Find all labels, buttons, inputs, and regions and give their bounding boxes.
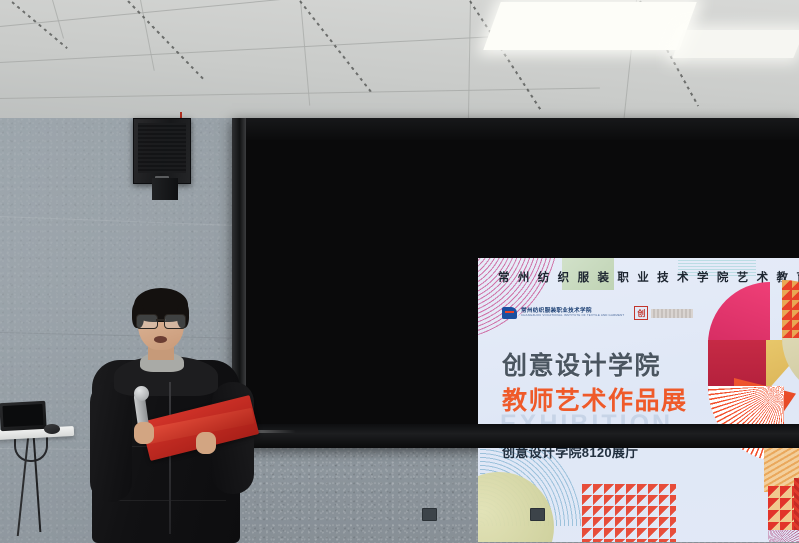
speaker-presenter [84, 286, 256, 543]
speaker-grill [138, 123, 186, 173]
university-name-en: CHANGZHOU VOCATIONAL INSTITUTE OF TEXTIL… [521, 314, 624, 317]
person-right-hand [196, 432, 216, 454]
university-logo-icon [502, 307, 517, 319]
poster-artwork-40 [708, 282, 799, 530]
wall-outlet-right[interactable] [530, 508, 545, 521]
suspended-ceiling [0, 0, 799, 126]
ceiling-light-panel-edge [672, 30, 799, 58]
display-bezel-top [232, 118, 799, 140]
secondary-logo-wordmark [651, 309, 693, 318]
speaker-mount-bracket [152, 178, 178, 200]
exhibition-poster: 常 州 纺 织 服 装 职 业 技 术 学 院 艺 术 教 育 开 办 4 0 … [478, 258, 799, 542]
wall-display[interactable]: 常 州 纺 织 服 装 职 业 技 术 学 院 艺 术 教 育 开 办 4 0 … [232, 118, 799, 448]
wall-speaker [133, 118, 191, 184]
conference-room-scene: 常 州 纺 织 服 装 职 业 技 术 学 院 艺 术 教 育 开 办 4 0 … [0, 0, 799, 543]
laptop-computer[interactable] [0, 401, 47, 431]
wall-outlet-center[interactable] [422, 508, 437, 521]
display-bezel-bottom [232, 424, 799, 448]
poster-title-line2: 教师艺术作品展 [502, 381, 688, 417]
eyeglasses-left-lens [136, 314, 158, 329]
person-left-arm [90, 382, 132, 502]
secondary-logo: 创 [634, 306, 693, 320]
secondary-logo-icon: 创 [634, 306, 648, 320]
eyeglasses-right-lens [164, 314, 186, 329]
person-left-hand [134, 422, 154, 444]
microphone-head [134, 386, 149, 401]
ceiling-light-panel [483, 2, 696, 50]
decor-triangle-grid [582, 484, 676, 542]
laptop-screen [2, 404, 43, 427]
computer-mouse[interactable] [44, 424, 60, 434]
coat-zipper [169, 382, 171, 534]
poster-logos: 常州纺织服装职业技术学院 CHANGZHOU VOCATIONAL INSTIT… [502, 306, 693, 320]
university-logo: 常州纺织服装职业技术学院 CHANGZHOU VOCATIONAL INSTIT… [502, 307, 624, 319]
person-mouth [154, 336, 167, 343]
poster-title-line1: 创意设计学院 [502, 346, 661, 382]
eyeglasses-icon [136, 314, 186, 327]
